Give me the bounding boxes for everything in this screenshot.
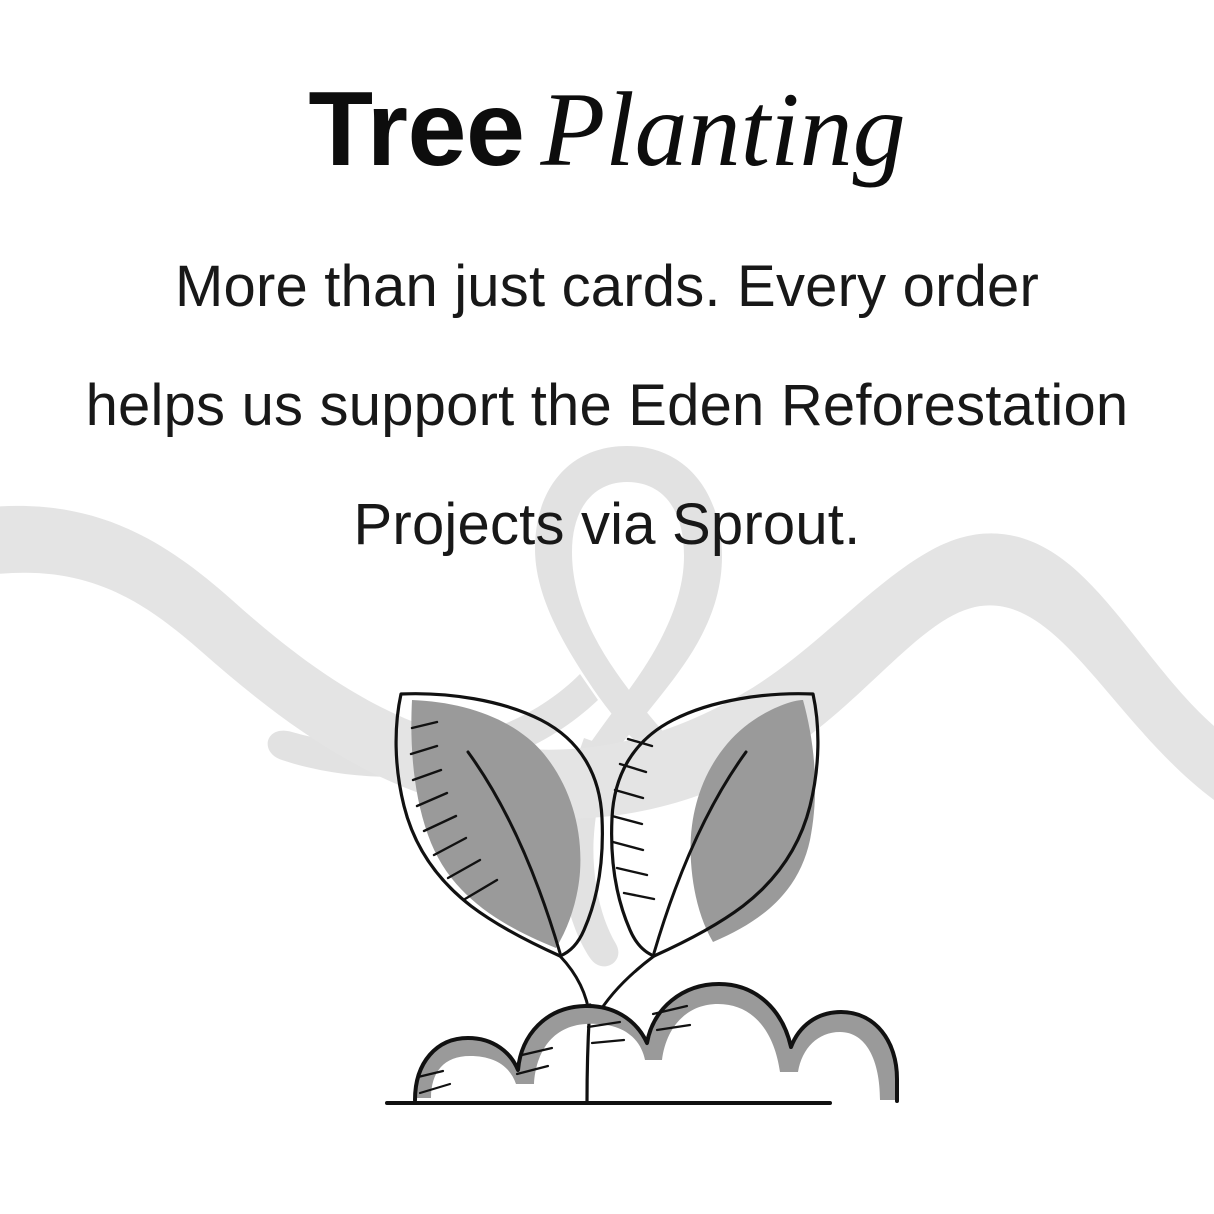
- body-copy: More than just cards. Every order helps …: [0, 185, 1214, 584]
- title-italic-word: Planting: [540, 71, 905, 188]
- body-line-1: More than just cards. Every order: [0, 227, 1214, 346]
- page-title: TreePlanting: [0, 0, 1214, 185]
- title-bold-word: Tree: [308, 70, 524, 188]
- soil-texture: [418, 1006, 690, 1093]
- stem: [560, 956, 654, 1102]
- body-line-3: Projects via Sprout.: [0, 465, 1214, 584]
- tree-planting-card: TreePlanting More than just cards. Every…: [0, 0, 1214, 1214]
- left-leaf-hatching: [411, 722, 497, 899]
- left-leaf: [396, 694, 602, 956]
- soil-mound: [415, 984, 897, 1101]
- right-leaf: [612, 694, 818, 956]
- body-line-2: helps us support the Eden Reforestation: [0, 346, 1214, 465]
- right-leaf-hatching: [612, 739, 654, 899]
- text-block: TreePlanting More than just cards. Every…: [0, 0, 1214, 584]
